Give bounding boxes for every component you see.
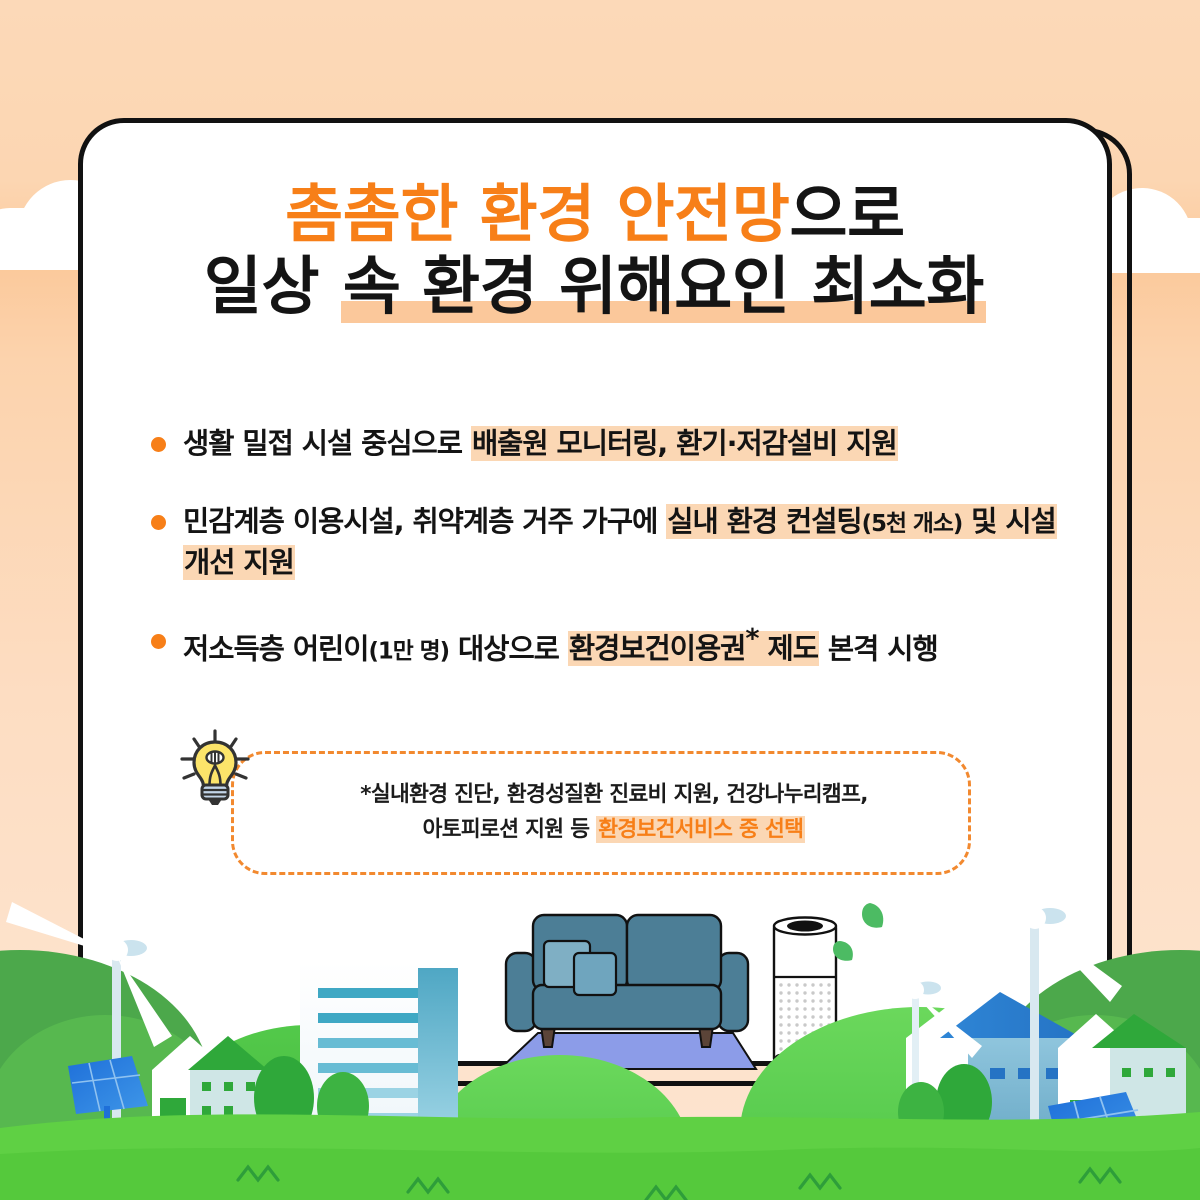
bullet-text: 생활 밀접 시설 중심으로 배출원 모니터링, 환기·저감설비 지원 [183,423,898,465]
footnote-container: *실내환경 진단, 환경성질환 진료비 지원, 건강나누리캠프, 아토피로션 지… [231,751,971,875]
list-item: 생활 밀접 시설 중심으로 배출원 모니터링, 환기·저감설비 지원 [151,423,1061,465]
bullet-plain: 민감계층 이용시설, 취약계층 거주 가구에 [183,505,666,538]
poster-root: 촘촘한 환경 안전망으로 일상 속 환경 위해요인 최소화 생활 밀접 시설 중… [0,0,1200,1200]
bullet-dot-icon [151,634,166,649]
footnote-box: *실내환경 진단, 환경성질환 진료비 지원, 건강나누리캠프, 아토피로션 지… [231,751,971,875]
bullet-text: 민감계층 이용시설, 취약계층 거주 가구에 실내 환경 컨설팅(5천 개소) … [183,501,1061,584]
page-title-highlight: 촘촘한 환경 안전망 [285,178,789,251]
list-item: 저소득층 어린이(1만 명) 대상으로 환경보건이용권* 제도 본격 시행 [151,620,1061,670]
bullet-highlight-tail: 제도 [759,632,818,665]
bullet-dot-icon [151,515,166,530]
grass-icon [0,1148,1200,1200]
bullet-dot-icon [151,437,166,452]
bullet-plain-end: 본격 시행 [819,632,938,665]
page-title-rest: 으로 [790,178,905,251]
list-item: 민감계층 이용시설, 취약계층 거주 가구에 실내 환경 컨설팅(5천 개소) … [151,501,1061,584]
page-subtitle-plain: 일상 [204,250,341,323]
bullet-highlight: 환경보건이용권* 제도 [568,631,819,666]
bullet-count: (1만 명) [368,638,449,664]
bullet-highlight: 배출원 모니터링, 환기·저감설비 지원 [471,426,898,461]
bullet-plain: 생활 밀접 시설 중심으로 [183,427,471,460]
footnote-text: *실내환경 진단, 환경성질환 진료비 지원, 건강나누리캠프, 아토피로션 지… [304,778,897,848]
bullet-text: 저소득층 어린이(1만 명) 대상으로 환경보건이용권* 제도 본격 시행 [183,620,938,670]
bullet-plain: 저소득층 어린이 [183,632,368,665]
cloud-icon [0,222,25,270]
footnote-line-2-plain: 아토피로션 지원 등 [423,817,597,842]
bullet-highlight-main: 실내 환경 컨설팅 [667,505,861,538]
page-title: 촘촘한 환경 안전망으로 일상 속 환경 위해요인 최소화 [83,181,1107,321]
bullet-highlight-count: (5천 개소) [862,511,963,537]
bullet-list: 생활 밀접 시설 중심으로 배출원 모니터링, 환기·저감설비 지원 민감계층 … [151,423,1061,706]
lightbulb-icon [172,726,258,812]
page-subtitle-marked: 속 환경 위해요인 최소화 [341,250,986,323]
footnote-star-marker: * [745,624,758,655]
footnote-line-1: *실내환경 진단, 환경성질환 진료비 지원, 건강나누리캠프, [360,778,867,813]
landscape-illustration [0,870,1200,1200]
bullet-plain-mid: 대상으로 [449,632,568,665]
footnote-line-2: 아토피로션 지원 등 환경보건서비스 중 선택 [360,813,867,848]
footnote-line-2-highlight: 환경보건서비스 중 선택 [596,816,805,843]
bullet-highlight-main: 환경보건이용권 [569,632,746,665]
